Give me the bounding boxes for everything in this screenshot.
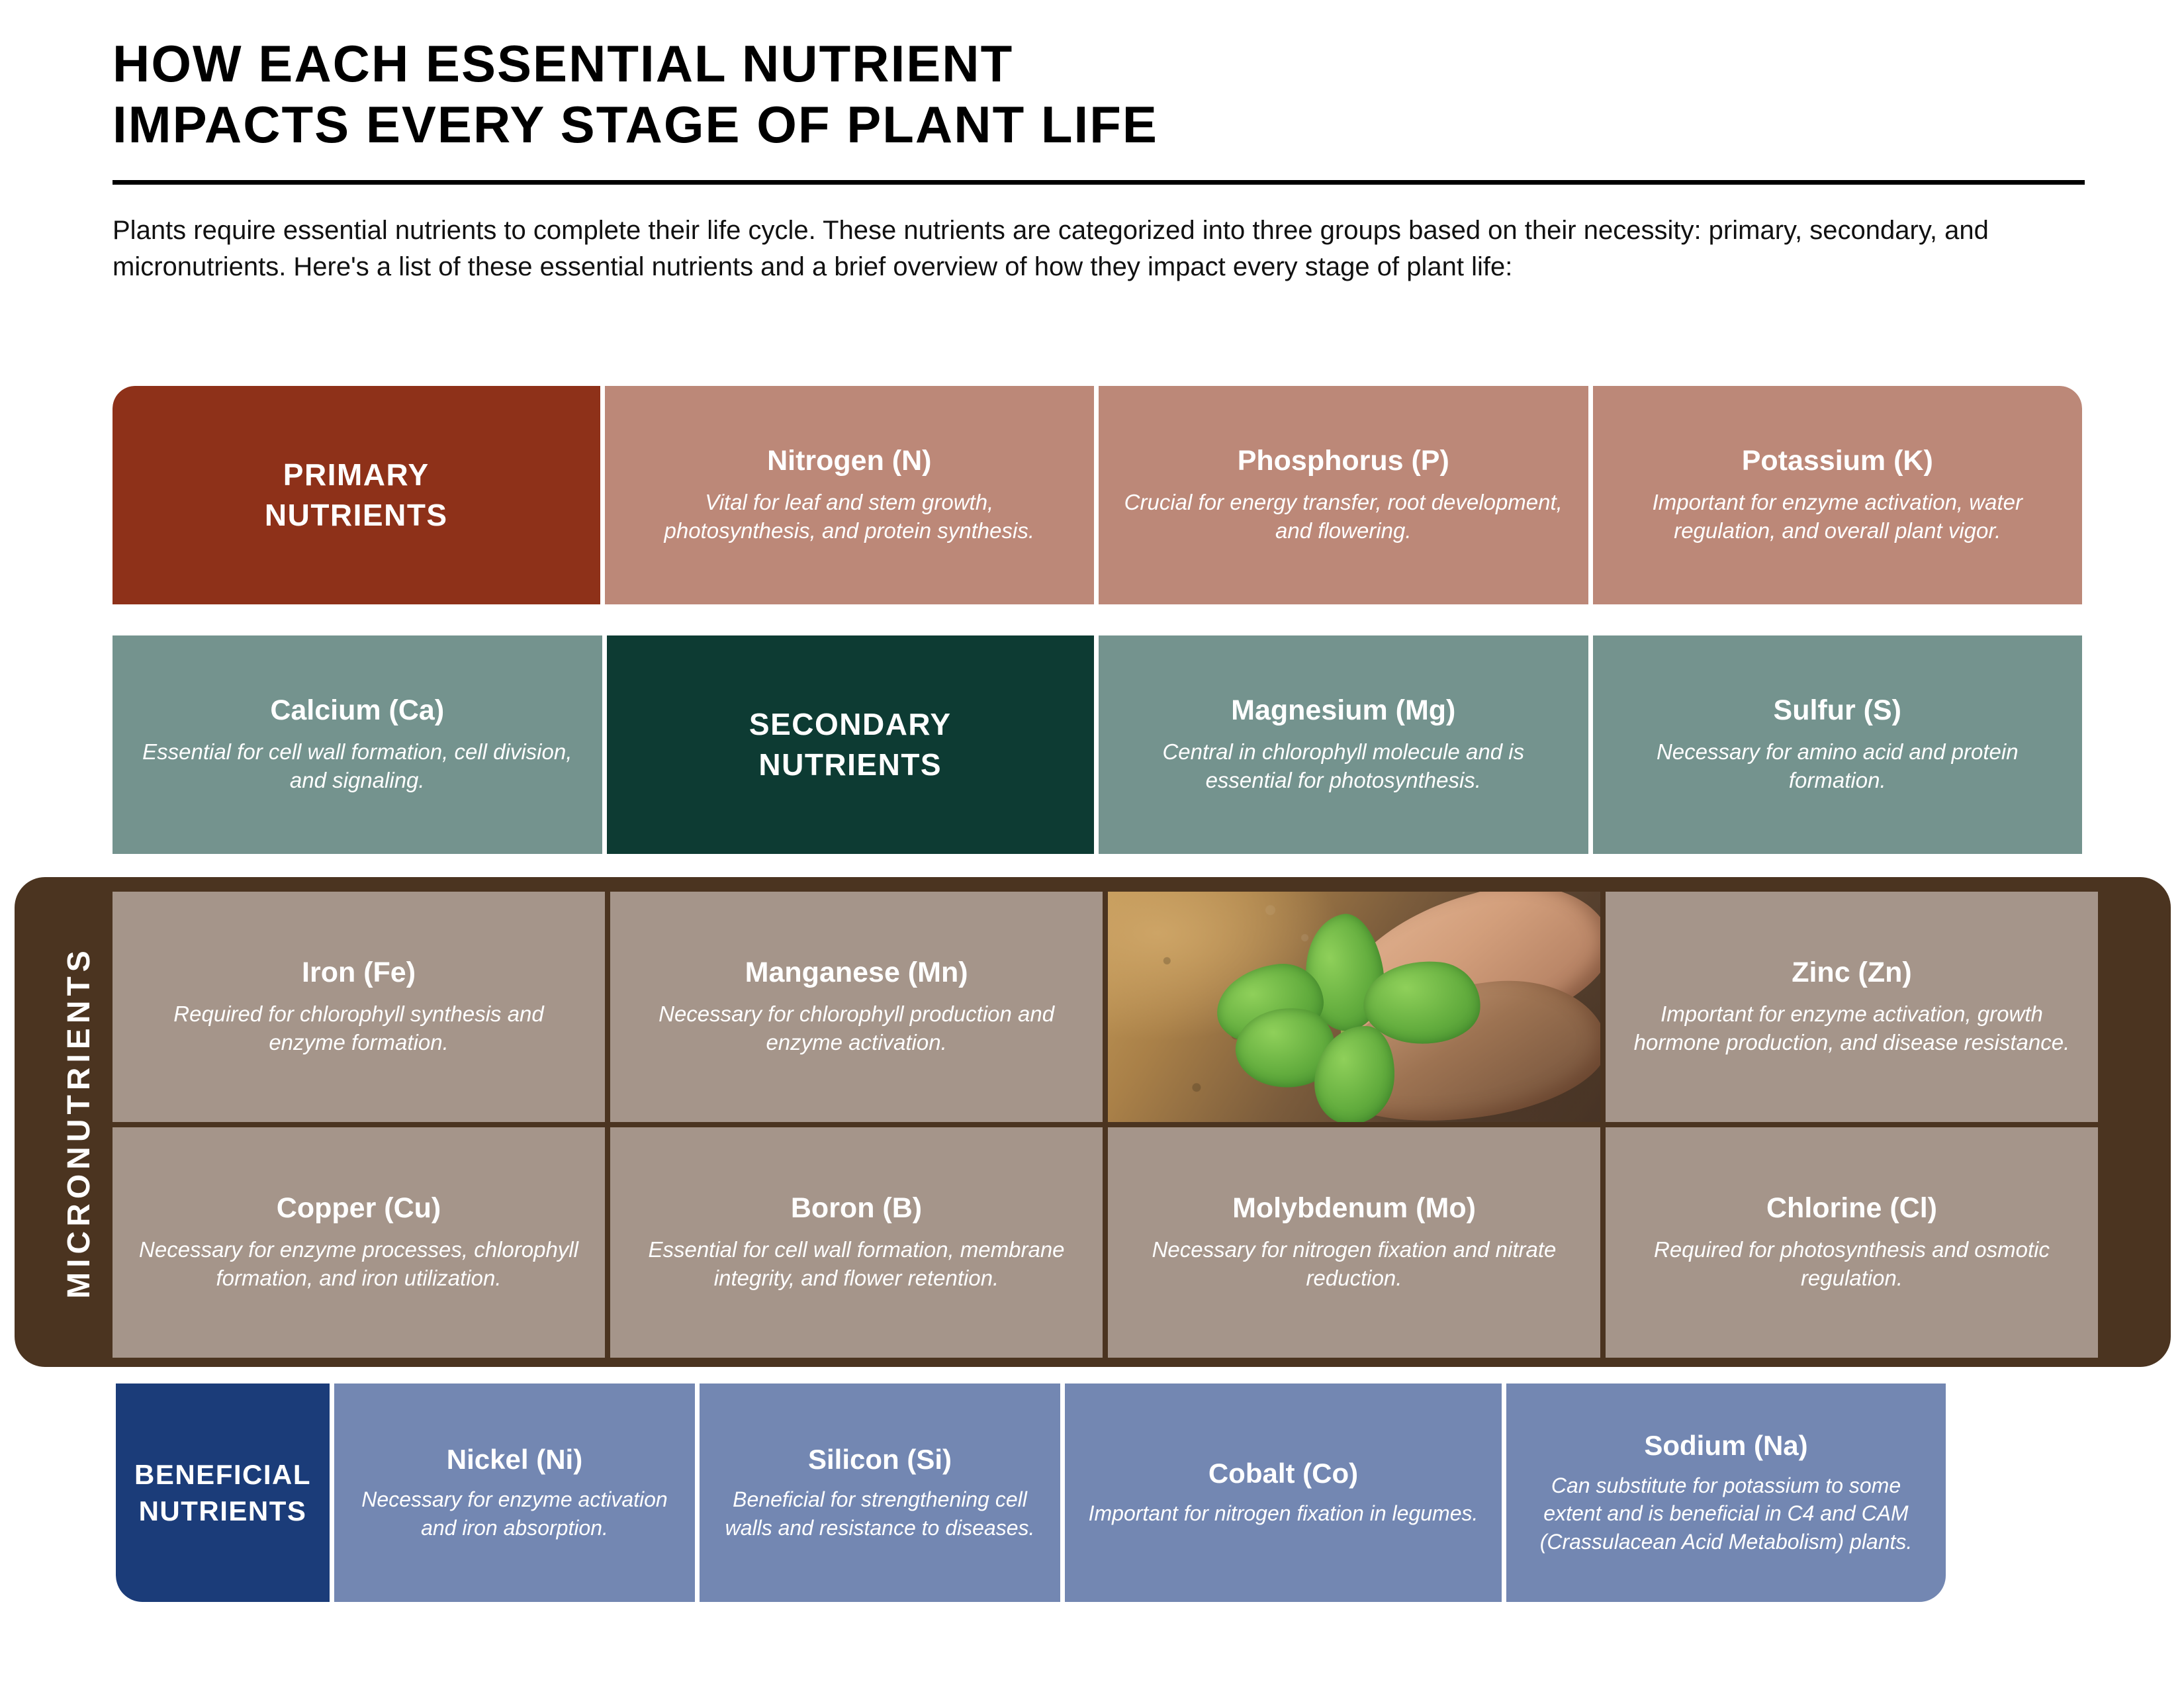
photo-soil-background	[1108, 892, 1600, 1122]
nutrient-description: Crucial for energy transfer, root develo…	[1121, 488, 1566, 545]
nutrient-description: Essential for cell wall formation, cell …	[135, 737, 580, 795]
nutrient-name: Calcium (Ca)	[270, 694, 444, 726]
secondary-group-label-text: SECONDARY NUTRIENTS	[749, 704, 952, 784]
secondary-nutrients-row: Calcium (Ca) Essential for cell wall for…	[113, 635, 2082, 854]
nutrient-description: Can substitute for potassium to some ext…	[1529, 1472, 1923, 1556]
nutrient-description: Central in chlorophyll molecule and is e…	[1121, 737, 1566, 795]
nutrient-card-chlorine[interactable]: Chlorine (Cl) Required for photosynthesi…	[1606, 1127, 2098, 1358]
beneficial-group-label-text: BENEFICIAL NUTRIENTS	[134, 1456, 311, 1530]
nutrient-name: Sodium (Na)	[1644, 1430, 1807, 1461]
primary-group-label-line-2: NUTRIENTS	[265, 498, 448, 532]
nutrient-card-sulfur[interactable]: Sulfur (S) Necessary for amino acid and …	[1593, 635, 2083, 854]
nutrient-name: Sulfur (S)	[1774, 694, 1901, 726]
nutrient-name: Manganese (Mn)	[745, 957, 968, 988]
nutrient-card-phosphorus[interactable]: Phosphorus (P) Crucial for energy transf…	[1099, 386, 1588, 604]
nutrient-description: Necessary for enzyme activation and iron…	[357, 1485, 672, 1541]
nutrient-card-magnesium[interactable]: Magnesium (Mg) Central in chlorophyll mo…	[1099, 635, 1588, 854]
nutrient-card-potassium[interactable]: Potassium (K) Important for enzyme activ…	[1593, 386, 2082, 604]
primary-group-label-text: PRIMARY NUTRIENTS	[265, 455, 448, 535]
intro-paragraph: Plants require essential nutrients to co…	[113, 212, 2045, 285]
secondary-group-label-line-2: NUTRIENTS	[758, 747, 942, 782]
page-title: HOW EACH ESSENTIAL NUTRIENT IMPACTS EVER…	[113, 33, 2085, 155]
micronutrients-row-2: Copper (Cu) Necessary for enzyme process…	[113, 1127, 2098, 1358]
nutrient-card-molybdenum[interactable]: Molybdenum (Mo) Necessary for nitrogen f…	[1108, 1127, 1600, 1358]
title-divider-rule	[113, 180, 2085, 185]
micronutrients-row-1: Iron (Fe) Required for chlorophyll synth…	[113, 892, 2098, 1122]
nutrient-description: Vital for leaf and stem growth, photosyn…	[627, 488, 1072, 545]
beneficial-nutrients-group-label: BENEFICIAL NUTRIENTS	[116, 1383, 330, 1602]
nutrient-card-iron[interactable]: Iron (Fe) Required for chlorophyll synth…	[113, 892, 605, 1122]
beneficial-nutrients-row: BENEFICIAL NUTRIENTS Nickel (Ni) Necessa…	[116, 1383, 2081, 1602]
nutrient-description: Important for enzyme activation, water r…	[1615, 488, 2060, 545]
nutrient-name: Zinc (Zn)	[1792, 957, 1912, 988]
nutrient-card-boron[interactable]: Boron (B) Essential for cell wall format…	[610, 1127, 1103, 1358]
page-title-line-2: IMPACTS EVERY STAGE OF PLANT LIFE	[113, 94, 2085, 155]
header: HOW EACH ESSENTIAL NUTRIENT IMPACTS EVER…	[113, 33, 2085, 312]
nutrient-name: Molybdenum (Mo)	[1232, 1192, 1476, 1224]
beneficial-group-label-line-2: NUTRIENTS	[139, 1495, 307, 1526]
secondary-nutrients-group-label: SECONDARY NUTRIENTS	[607, 635, 1095, 854]
page-title-line-1: HOW EACH ESSENTIAL NUTRIENT	[113, 33, 2085, 94]
nutrient-card-nickel[interactable]: Nickel (Ni) Necessary for enzyme activat…	[334, 1383, 695, 1602]
nutrient-card-cobalt[interactable]: Cobalt (Co) Important for nitrogen fixat…	[1065, 1383, 1502, 1602]
micronutrients-group-label-text: MICRONUTRIENTS	[61, 946, 97, 1299]
nutrient-description: Necessary for amino acid and protein for…	[1615, 737, 2060, 795]
infographic-page: HOW EACH ESSENTIAL NUTRIENT IMPACTS EVER…	[0, 0, 2184, 1688]
primary-nutrients-row: PRIMARY NUTRIENTS Nitrogen (N) Vital for…	[113, 386, 2082, 604]
nutrient-name: Phosphorus (P)	[1238, 445, 1449, 477]
micronutrients-panel: MICRONUTRIENTS Iron (Fe) Required for ch…	[15, 877, 2171, 1367]
secondary-group-label-line-1: SECONDARY	[749, 707, 952, 741]
nutrient-card-nitrogen[interactable]: Nitrogen (N) Vital for leaf and stem gro…	[605, 386, 1095, 604]
nutrient-name: Iron (Fe)	[302, 957, 416, 988]
nutrient-description: Necessary for enzyme processes, chloroph…	[135, 1235, 582, 1293]
nutrient-card-zinc[interactable]: Zinc (Zn) Important for enzyme activatio…	[1606, 892, 2098, 1122]
nutrient-name: Chlorine (Cl)	[1766, 1192, 1937, 1224]
nutrient-name: Copper (Cu)	[277, 1192, 441, 1224]
nutrient-card-sodium[interactable]: Sodium (Na) Can substitute for potassium…	[1506, 1383, 1946, 1602]
micronutrients-group-label: MICRONUTRIENTS	[49, 877, 109, 1367]
seedling-planting-photo	[1108, 892, 1600, 1122]
nutrient-description: Beneficial for strengthening cell walls …	[722, 1485, 1038, 1541]
nutrient-name: Nickel (Ni)	[447, 1444, 582, 1475]
nutrient-card-calcium[interactable]: Calcium (Ca) Essential for cell wall for…	[113, 635, 602, 854]
nutrient-description: Required for photosynthesis and osmotic …	[1628, 1235, 2075, 1293]
nutrient-description: Important for enzyme activation, growth …	[1628, 1000, 2075, 1057]
nutrient-description: Necessary for nitrogen fixation and nitr…	[1130, 1235, 1578, 1293]
primary-group-label-line-1: PRIMARY	[283, 457, 430, 492]
nutrient-name: Potassium (K)	[1742, 445, 1933, 477]
nutrient-name: Silicon (Si)	[808, 1444, 952, 1475]
nutrient-card-copper[interactable]: Copper (Cu) Necessary for enzyme process…	[113, 1127, 605, 1358]
nutrient-description: Essential for cell wall formation, membr…	[633, 1235, 1080, 1293]
nutrient-name: Nitrogen (N)	[767, 445, 931, 477]
nutrient-name: Boron (B)	[791, 1192, 922, 1224]
nutrient-card-silicon[interactable]: Silicon (Si) Beneficial for strengthenin…	[700, 1383, 1060, 1602]
nutrient-name: Cobalt (Co)	[1208, 1458, 1358, 1489]
nutrient-description: Required for chlorophyll synthesis and e…	[135, 1000, 582, 1057]
nutrient-description: Important for nitrogen fixation in legum…	[1089, 1499, 1479, 1527]
beneficial-group-label-line-1: BENEFICIAL	[134, 1459, 311, 1490]
nutrient-description: Necessary for chlorophyll production and…	[633, 1000, 1080, 1057]
primary-nutrients-group-label: PRIMARY NUTRIENTS	[113, 386, 600, 604]
nutrient-name: Magnesium (Mg)	[1231, 694, 1455, 726]
nutrient-card-manganese[interactable]: Manganese (Mn) Necessary for chlorophyll…	[610, 892, 1103, 1122]
